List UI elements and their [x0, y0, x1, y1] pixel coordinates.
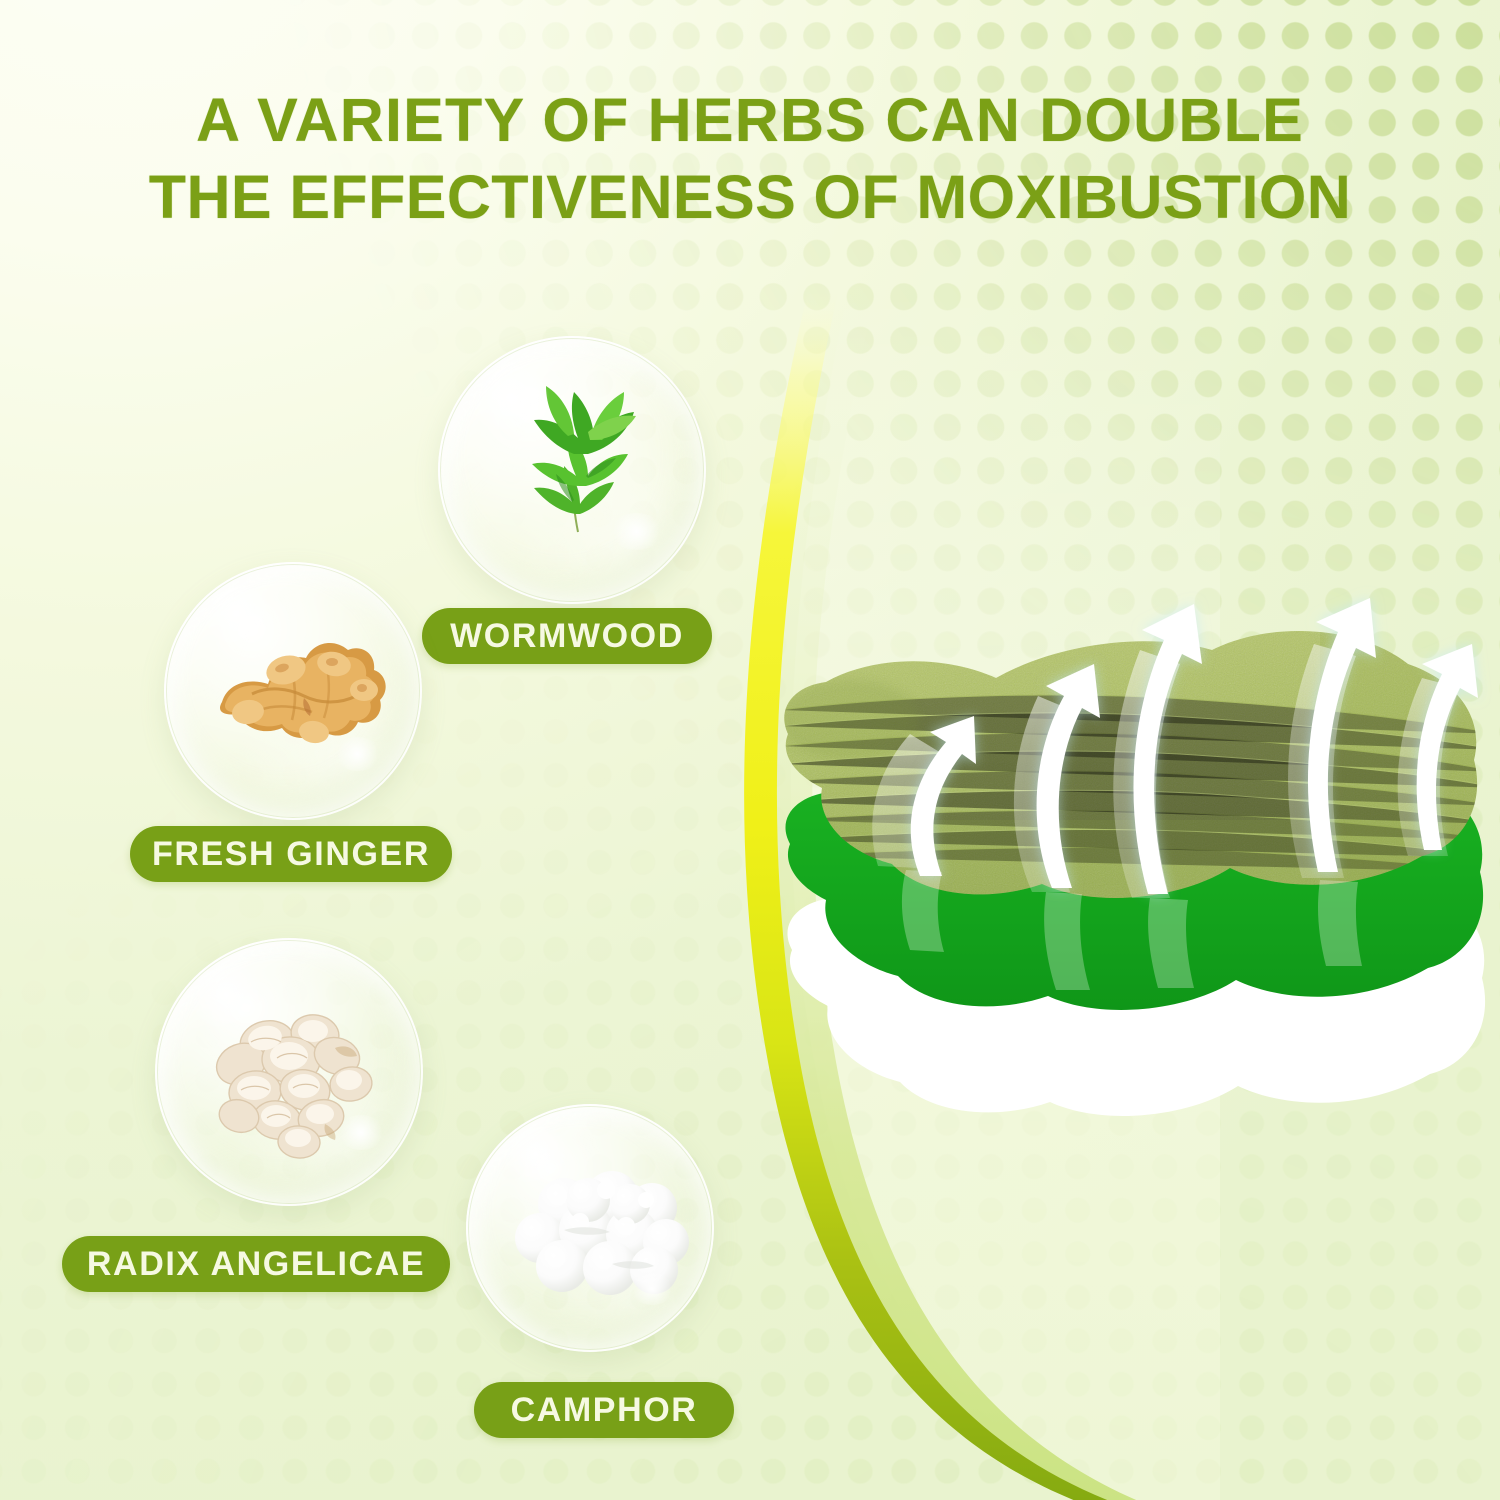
ingredient-label-text: WORMWOOD: [450, 617, 684, 656]
wormwood-leaf-icon: [438, 336, 706, 604]
ingredient-label-text: FRESH GINGER: [152, 835, 430, 874]
bubble-highlight-small: [630, 1273, 675, 1305]
angelica-root-slices-icon: [155, 938, 423, 1206]
ingredient-bubble-radix-angelicae[interactable]: [155, 938, 423, 1206]
bubble-highlight-small: [334, 737, 380, 771]
bubble-highlight-small: [610, 513, 664, 551]
ingredient-bubble-wormwood[interactable]: [438, 336, 706, 604]
ingredient-bubble-fresh-ginger[interactable]: [164, 562, 422, 820]
page-title-line-1: A VARIETY OF HERBS CAN DOUBLE: [0, 82, 1500, 159]
bubble-highlight: [174, 952, 278, 1039]
camphor-balls-icon: [466, 1104, 714, 1352]
page-title: A VARIETY OF HERBS CAN DOUBLE THE EFFECT…: [0, 82, 1500, 236]
ingredient-label-fresh-ginger: FRESH GINGER: [130, 826, 452, 882]
bubble-highlight: [188, 572, 285, 655]
bubble-highlight-small: [337, 1115, 385, 1150]
page-title-line-2: THE EFFECTIVENESS OF MOXIBUSTION: [0, 159, 1500, 236]
ingredient-label-radix-angelicae: RADIX ANGELICAE: [62, 1236, 450, 1292]
poster-canvas: A VARIETY OF HERBS CAN DOUBLE THE EFFECT…: [0, 0, 1500, 1500]
bubble-highlight: [457, 352, 564, 443]
moxibustion-patch-layers-diagram: [760, 520, 1500, 1160]
ingredient-label-camphor: CAMPHOR: [474, 1382, 734, 1438]
ingredient-label-text: CAMPHOR: [511, 1391, 698, 1430]
bubble-highlight: [489, 1114, 582, 1193]
ingredient-label-text: RADIX ANGELICAE: [87, 1245, 425, 1284]
ingredient-bubble-camphor[interactable]: [466, 1104, 714, 1352]
ingredient-label-wormwood: WORMWOOD: [422, 608, 712, 664]
ginger-root-icon: [164, 562, 422, 820]
